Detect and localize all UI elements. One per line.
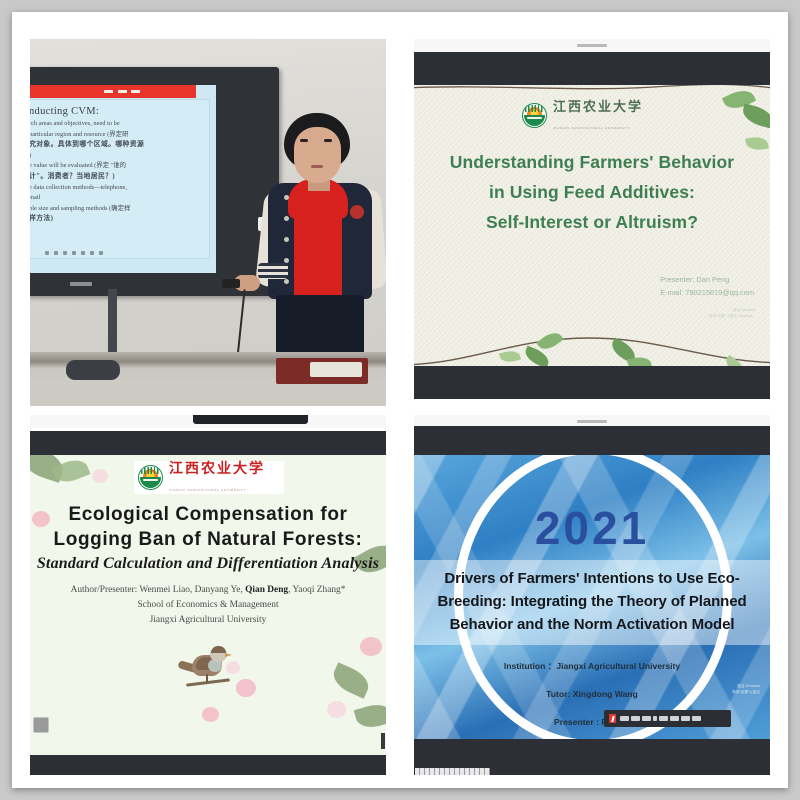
projected-slide-line: e value will be evaluated (界定 "谁的 <box>30 162 205 171</box>
lecture-photograph: nducting CVM: rch areas and objectives, … <box>30 39 386 406</box>
panel-grid: nducting CVM: rch areas and objectives, … <box>30 25 770 775</box>
watermark-line: 转到"设置"以激活 <box>732 689 760 695</box>
conference-speakerphone <box>66 360 120 380</box>
window-title-text <box>577 420 607 423</box>
slide-title: Understanding Farmers' Behavior in Using… <box>414 147 770 237</box>
author-line: Author/Presenter: Wenmei Liao, Danyang Y… <box>30 583 386 598</box>
slide-title-line: Self-Interest or Altruism? <box>414 207 770 237</box>
university-name-cn: 江西农业大学 <box>169 462 265 477</box>
presenter-face <box>294 127 341 183</box>
slide-title-line: Understanding Farmers' Behavior <box>414 147 770 177</box>
slideshow-prev-button[interactable] <box>33 717 49 733</box>
shared-screen-window: 江西农业大学 JIANGXI AGRICULTURAL UNIVERSITY E… <box>30 415 386 775</box>
projected-slide-line: 样方法) <box>30 215 205 224</box>
projected-slide-line: e data collection methods—telephone, <box>30 184 205 193</box>
presentation-clicker <box>222 279 240 288</box>
collage-frame: nducting CVM: rch areas and objectives, … <box>12 12 788 788</box>
blossom-icon <box>360 637 382 656</box>
whiteboard-screen: nducting CVM: rch areas and objectives, … <box>30 85 216 273</box>
panel-eco-breeding-slide: 2021 Drivers of Farmers' Intentions to U… <box>414 415 770 775</box>
title-slide: 江西农业大学 JIANGXI AGRICULTURAL UNIVERSITY U… <box>414 85 770 366</box>
presenter-name: Presenter: Dan Peng <box>660 273 754 286</box>
windows-activation-watermark: 激活 Windows 转到"设置"以激活 Windows。 <box>709 307 756 319</box>
projected-slide-line: particular region and resource (界定研 <box>30 131 205 140</box>
university-emblem-icon <box>138 465 163 490</box>
slide-title-line: Drivers of Farmers' Intentions to Use Ec… <box>420 567 764 590</box>
slide-subtitle: Standard Calculation and Differentiation… <box>30 555 386 573</box>
panel-scroll-handle[interactable] <box>381 733 385 749</box>
blossom-icon <box>92 469 108 483</box>
blossom-icon <box>202 707 219 722</box>
affiliation-line: Jiangxi Agricultural University <box>30 613 386 628</box>
university-name-cn: 江西农业大学 <box>553 99 643 114</box>
projected-slide-line: rch areas and objectives, need to be <box>30 120 205 129</box>
institution-line: Institution ：Jiangxi Agricultural Univer… <box>414 652 770 680</box>
blossom-icon <box>236 679 256 697</box>
slide-title-line: Logging Ban of Natural Forests: <box>30 527 386 552</box>
university-logo: 江西农业大学 JIANGXI AGRICULTURAL UNIVERSITY <box>522 103 672 128</box>
title-slide: 2021 Drivers of Farmers' Intentions to U… <box>414 455 770 739</box>
slide-presenter-block: Presenter: Dan Peng E-mail: 790215619@qq… <box>660 273 754 299</box>
university-name-en: JIANGXI AGRICULTURAL UNIVERSITY <box>169 488 246 492</box>
projected-slide-line: mail <box>30 194 205 203</box>
author-line-tail: , Yaoqi Zhang* <box>288 585 345 595</box>
red-folder-on-desk <box>276 358 368 384</box>
presenter-red-shirt <box>294 205 342 301</box>
projected-slide-line: 究对象。具体到哪个区域。哪种资源 <box>30 141 205 150</box>
presentation-stage: 江西农业大学 JIANGXI AGRICULTURAL UNIVERSITY U… <box>414 52 770 399</box>
author-line-head: Author/Presenter: Wenmei Liao, Danyang Y… <box>71 585 246 595</box>
whiteboard-brand-logo <box>70 282 92 286</box>
slide-title: Ecological Compensation for Logging Ban … <box>30 502 386 552</box>
toast-label-glyphs <box>620 716 701 721</box>
presenter-eye-right <box>324 139 332 142</box>
slide-title: Drivers of Farmers' Intentions to Use Ec… <box>414 560 770 645</box>
window-title-bar[interactable] <box>414 39 770 52</box>
title-slide: 江西农业大学 JIANGXI AGRICULTURAL UNIVERSITY E… <box>30 455 386 755</box>
desktop-taskbar-strip[interactable] <box>415 768 490 775</box>
panel-ecological-compensation-slide: 江西农业大学 JIANGXI AGRICULTURAL UNIVERSITY E… <box>30 415 386 775</box>
university-logo: 江西农业大学 JIANGXI AGRICULTURAL UNIVERSITY <box>134 461 284 494</box>
affiliation-line: School of Economics & Management <box>30 598 386 613</box>
time-line: Time: 2021 <box>414 736 770 739</box>
presenter-striped-cuff <box>258 263 288 279</box>
presentation-stage: 2021 Drivers of Farmers' Intentions to U… <box>414 426 770 775</box>
slide-year: 2021 <box>414 505 770 551</box>
panel-lecture-photo: nducting CVM: rch areas and objectives, … <box>30 39 386 406</box>
presentation-stage: 江西农业大学 JIANGXI AGRICULTURAL UNIVERSITY E… <box>30 431 386 775</box>
slide-author-block: Author/Presenter: Wenmei Liao, Danyang Y… <box>30 583 386 628</box>
projected-slide-heading: nducting CVM: <box>30 106 205 117</box>
tutor-line: Tutor: Xingdong Wang <box>414 680 770 708</box>
meeting-toolbar-tab[interactable] <box>193 415 308 424</box>
windows-activation-watermark: 激活 Windows 转到"设置"以激活 <box>732 683 760 695</box>
projected-slide-line: ple size and sampling methods (确定样 <box>30 205 205 214</box>
leaf-icon <box>354 700 386 731</box>
whiteboard-stand <box>108 289 117 359</box>
desk-front-panel <box>30 384 386 406</box>
blossom-icon <box>226 661 240 674</box>
slide-title-line: in Using Feed Additives: <box>414 177 770 207</box>
university-name-en: JIANGXI AGRICULTURAL UNIVERSITY <box>553 126 630 130</box>
watermark-line: 转到"设置"以激活 Windows。 <box>709 313 756 319</box>
presenter-mouth <box>311 165 323 168</box>
recording-toast[interactable] <box>604 710 731 727</box>
blossom-icon <box>327 701 346 718</box>
vine-decoration-top <box>414 85 770 93</box>
interactive-whiteboard: nducting CVM: rch areas and objectives, … <box>30 67 279 296</box>
slide-title-line: Breeding: Integrating the Theory of Plan… <box>420 590 764 613</box>
presenter-figure <box>262 113 380 363</box>
jacket-badge <box>350 205 364 219</box>
slide-title-line: Behavior and the Norm Activation Model <box>420 613 764 636</box>
slide-title-line: Ecological Compensation for <box>30 502 386 527</box>
vine-decoration-bottom <box>414 332 770 366</box>
window-title-text <box>577 44 607 47</box>
projected-slide: nducting CVM: rch areas and objectives, … <box>30 99 210 259</box>
slide-red-header <box>30 85 196 98</box>
shared-screen-window: 2021 Drivers of Farmers' Intentions to U… <box>414 415 770 775</box>
leaf-icon <box>329 662 373 698</box>
whiteboard-toolbar-icons[interactable] <box>45 251 103 255</box>
presenter-email: E-mail: 790215619@qq.com <box>660 286 754 299</box>
projected-slide-line: 计"。消费者？当地居民？) <box>30 173 205 182</box>
projected-slide-line: ) <box>30 152 205 161</box>
panel-feed-additives-slide: 江西农业大学 JIANGXI AGRICULTURAL UNIVERSITY U… <box>414 39 770 406</box>
university-emblem-icon <box>522 103 547 128</box>
shared-screen-window: 江西农业大学 JIANGXI AGRICULTURAL UNIVERSITY U… <box>414 39 770 406</box>
recording-icon <box>609 714 616 723</box>
author-highlight: Qian Deng <box>245 585 288 595</box>
presenter-eye-left <box>300 139 308 142</box>
